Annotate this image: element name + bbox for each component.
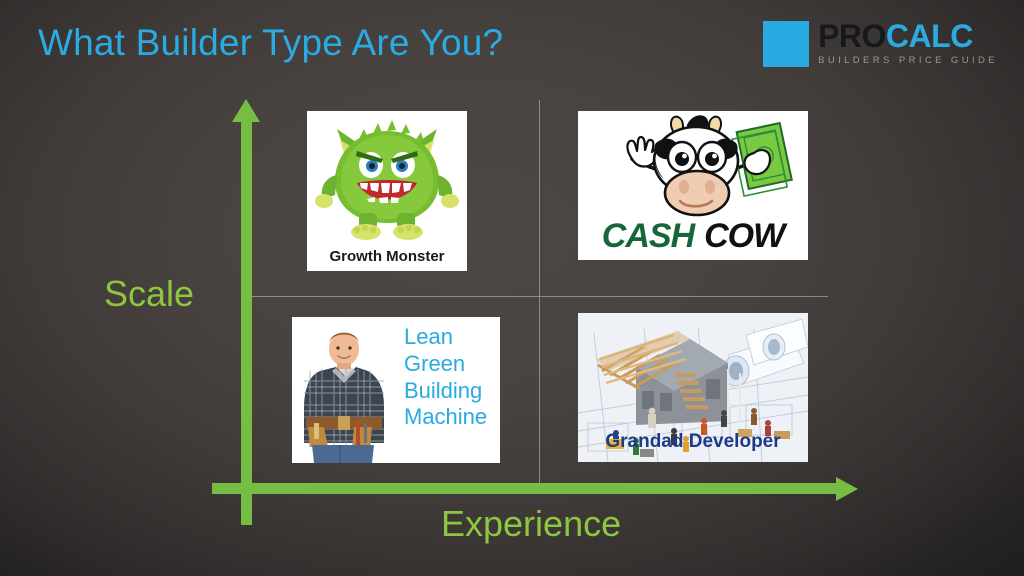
lean-caption-line-2: Green: [404, 351, 500, 378]
cash-cow-caption: CASHCOW: [578, 217, 808, 256]
quadrant-card-grandad-developer: Grandad Developer: [578, 313, 808, 462]
y-axis-label: Scale: [104, 273, 194, 315]
slide-canvas: What Builder Type Are You? PROCALC BUILD…: [0, 0, 1024, 576]
green-monster-icon: [307, 113, 467, 241]
growth-monster-caption: Growth Monster: [307, 248, 467, 265]
cash-cow-icon: $: [578, 111, 808, 221]
lean-green-caption: Lean Green Building Machine: [396, 317, 500, 463]
cash-cow-caption-cow: COW: [704, 217, 784, 255]
quadrant-card-growth-monster: Growth Monster: [307, 111, 467, 271]
quadrant-card-lean-green-building-machine: Lean Green Building Machine: [292, 317, 500, 463]
y-axis-line: [241, 117, 252, 525]
lean-caption-line-1: Lean: [404, 324, 500, 351]
logo-text: PROCALC BUILDERS PRICE GUIDE: [818, 21, 998, 66]
quadrant-card-cash-cow: $: [578, 111, 808, 260]
tradesman-photo: [292, 317, 396, 463]
procalc-logo: PROCALC BUILDERS PRICE GUIDE: [763, 21, 998, 67]
lean-caption-line-3: Building: [404, 378, 500, 405]
logo-square-icon: [763, 21, 809, 67]
quadrant-divider-horizontal: [248, 296, 828, 297]
quadrant-divider-vertical: [539, 100, 540, 492]
y-axis-arrow-icon: [232, 99, 260, 122]
logo-word-pro: PRO: [818, 18, 886, 54]
logo-word-calc: CALC: [886, 18, 973, 54]
logo-tagline: BUILDERS PRICE GUIDE: [818, 55, 998, 66]
x-axis-label: Experience: [441, 503, 621, 545]
cash-cow-caption-cash: CASH: [602, 217, 694, 255]
page-title: What Builder Type Are You?: [38, 22, 503, 64]
x-axis-line: [212, 483, 842, 494]
lean-caption-line-4: Machine: [404, 404, 500, 431]
grandad-developer-caption: Grandad Developer: [578, 431, 808, 453]
x-axis-arrow-icon: [836, 477, 858, 501]
logo-wordmark: PROCALC: [818, 21, 998, 51]
